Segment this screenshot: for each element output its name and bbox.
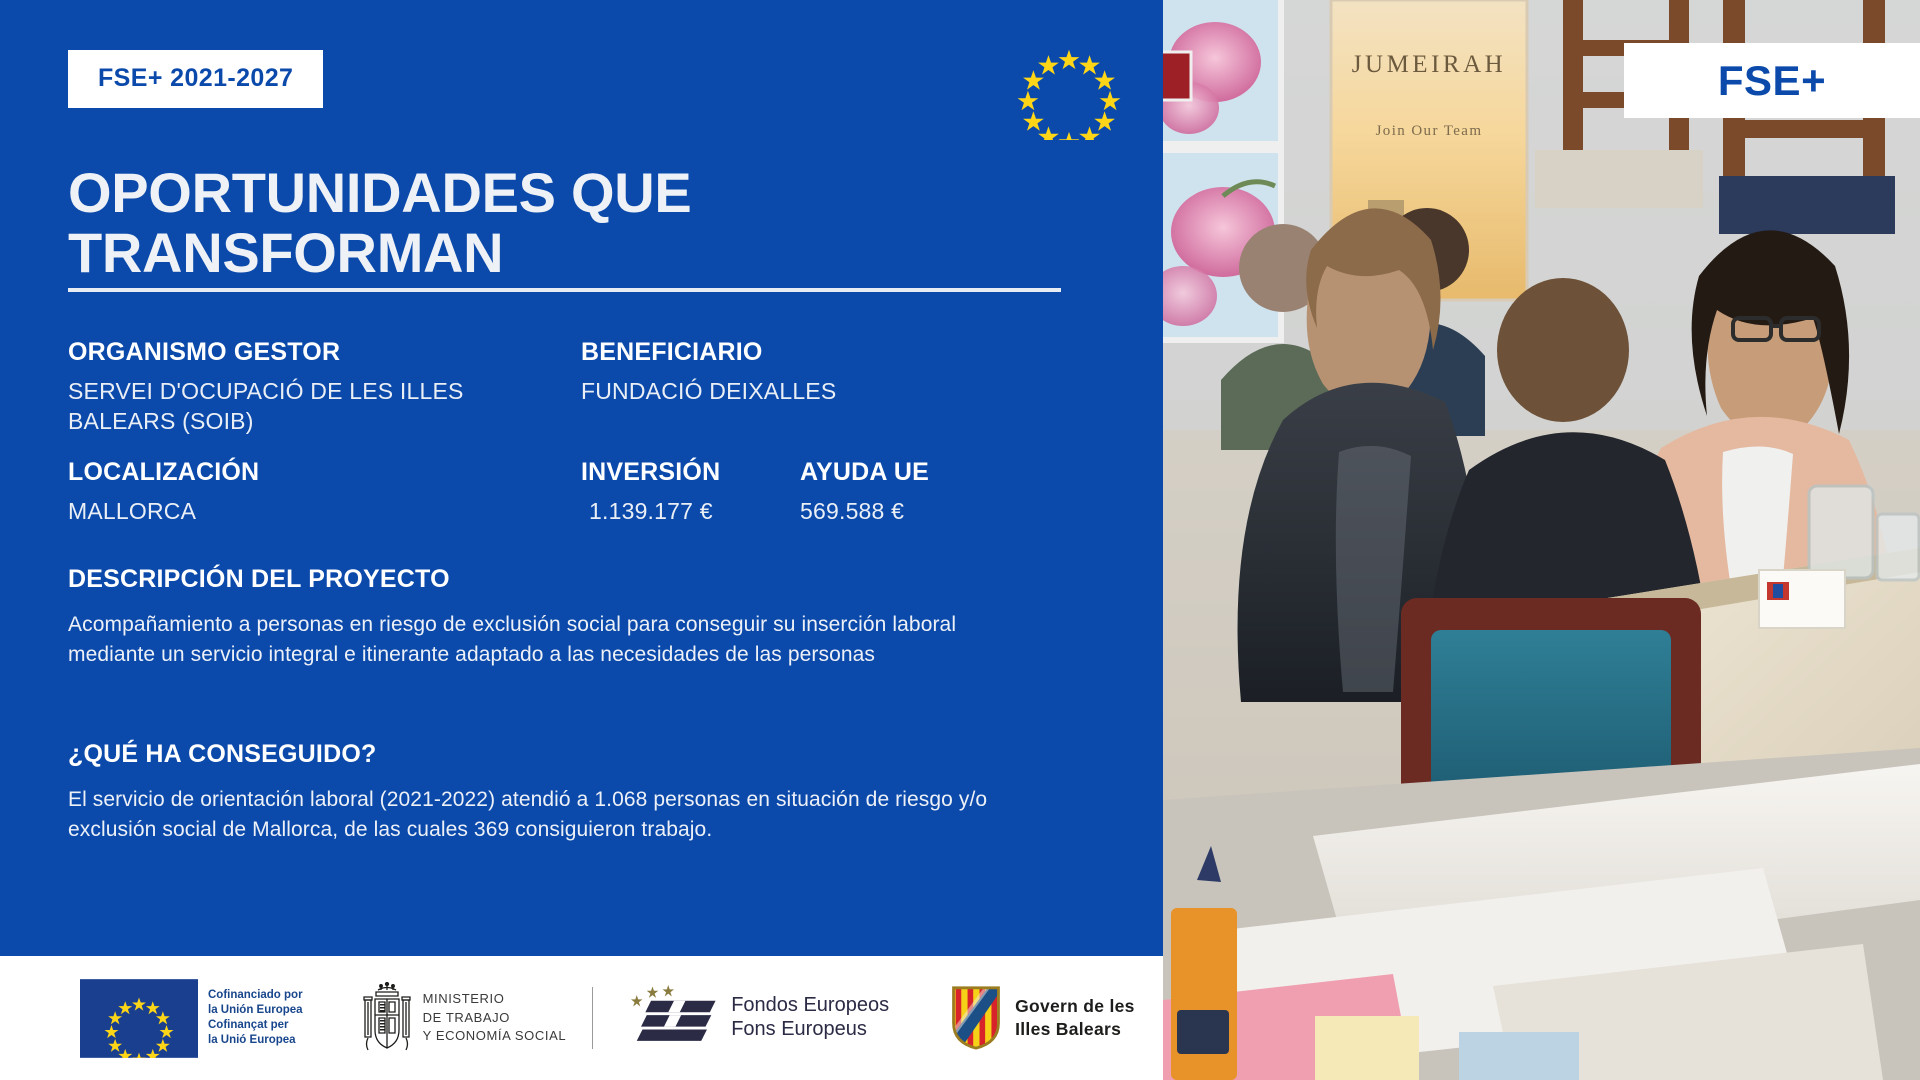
fse-plus-badge: FSE+ <box>1624 43 1920 118</box>
footer-logo-strip: Cofinanciado por la Unión Europea Cofina… <box>0 956 1163 1080</box>
logo-ministerio-text: MINISTERIO DE TRABAJO Y ECONOMÍA SOCIAL <box>423 990 567 1047</box>
fondos-europeos-icon <box>631 985 717 1051</box>
fact-label-inversion: INVERSIÓN <box>581 458 781 487</box>
footer-divider <box>592 987 593 1049</box>
logo-govern-text: Govern de les Illes Balears <box>1015 995 1135 1041</box>
fact-value-organismo: SERVEI D'OCUPACIÓ DE LES ILLES BALEARS (… <box>68 377 508 437</box>
fact-value-ayuda-ue: 569.588 € <box>800 497 1080 527</box>
facts-row-2: LOCALIZACIÓN MALLORCA INVERSIÓN 1.139.17… <box>68 458 1088 568</box>
logo-eu-line2: la Unión Europea <box>208 1003 303 1018</box>
section-conseguido: ¿QUÉ HA CONSEGUIDO? El servicio de orien… <box>68 740 1098 846</box>
logo-eu-cofinanciado: Cofinanciado por la Unión Europea Cofina… <box>80 979 303 1058</box>
fact-label-ayuda-ue: AYUDA UE <box>800 458 1080 487</box>
fact-value-beneficiario: FUNDACIÓ DEIXALLES <box>581 377 1001 407</box>
title-divider <box>68 288 1061 292</box>
svg-text:JUMEIRAH: JUMEIRAH <box>1352 51 1506 78</box>
logo-eu-text: Cofinanciado por la Unión Europea Cofina… <box>208 988 303 1049</box>
fact-label-localizacion: LOCALIZACIÓN <box>68 458 508 487</box>
fact-label-beneficiario: BENEFICIARIO <box>581 338 1001 367</box>
logo-fondos-text: Fondos Europeos Fons Europeus <box>731 994 889 1041</box>
logo-ministerio-line3: Y ECONOMÍA SOCIAL <box>423 1027 567 1046</box>
logo-eu-line4: la Unió Europea <box>208 1033 303 1048</box>
project-facts: ORGANISMO GESTOR SERVEI D'OCUPACIÓ DE LE… <box>68 338 1088 448</box>
logo-fondos-line1: Fondos Europeos <box>731 994 889 1018</box>
fact-beneficiario: BENEFICIARIO FUNDACIÓ DEIXALLES <box>581 338 1001 407</box>
page-title: OPORTUNIDADES QUE TRANSFORMAN <box>68 163 968 284</box>
fact-label-organismo: ORGANISMO GESTOR <box>68 338 508 367</box>
logo-eu-line3: Cofinançat per <box>208 1018 303 1033</box>
poster-root: JUMEIRAH Join Our Team jobs.jumeirah.com <box>0 0 1920 1080</box>
section-body-conseguido: El servicio de orientación laboral (2021… <box>68 785 1043 846</box>
spain-coat-of-arms-icon <box>361 982 413 1054</box>
photo-pane: JUMEIRAH Join Our Team jobs.jumeirah.com <box>1163 0 1920 1080</box>
section-body-descripcion: Acompañamiento a personas en riesgo de e… <box>68 610 1043 671</box>
section-title-conseguido: ¿QUÉ HA CONSEGUIDO? <box>68 740 1098 769</box>
photo-illustration: JUMEIRAH Join Our Team jobs.jumeirah.com <box>1163 0 1920 1080</box>
programme-badge: FSE+ 2021-2027 <box>68 50 323 108</box>
logo-govern-line1: Govern de les <box>1015 995 1135 1018</box>
fact-value-inversion: 1.139.177 € <box>581 497 781 527</box>
logo-govern-illes-balears: Govern de les Illes Balears <box>949 985 1135 1051</box>
section-descripcion: DESCRIPCIÓN DEL PROYECTO Acompañamiento … <box>68 565 1098 671</box>
blue-content-panel: FSE+ 2021-2027 OPORTUNIDADES QUE TRANSFO… <box>0 0 1163 956</box>
logo-fondos-line2: Fons Europeus <box>731 1018 889 1042</box>
eu-flag-icon <box>981 22 1157 140</box>
fact-value-localizacion: MALLORCA <box>68 497 508 527</box>
fact-inversion: INVERSIÓN 1.139.177 € <box>581 458 781 527</box>
logo-eu-line1: Cofinanciado por <box>208 988 303 1003</box>
eu-flag-small-icon <box>80 979 198 1058</box>
logo-fondos-europeos: Fondos Europeos Fons Europeus <box>631 985 889 1051</box>
svg-text:Join Our Team: Join Our Team <box>1376 123 1483 139</box>
fact-organismo: ORGANISMO GESTOR SERVEI D'OCUPACIÓ DE LE… <box>68 338 508 437</box>
balearic-shield-icon <box>949 985 1003 1051</box>
foreground-papers <box>1163 748 1920 1080</box>
fact-localizacion: LOCALIZACIÓN MALLORCA <box>68 458 508 527</box>
section-title-descripcion: DESCRIPCIÓN DEL PROYECTO <box>68 565 1098 594</box>
logo-ministerio-line2: DE TRABAJO <box>423 1009 567 1028</box>
logo-govern-line2: Illes Balears <box>1015 1018 1135 1041</box>
logo-ministerio-line1: MINISTERIO <box>423 990 567 1009</box>
fact-ayuda-ue: AYUDA UE 569.588 € <box>800 458 1080 527</box>
facts-row-1: ORGANISMO GESTOR SERVEI D'OCUPACIÓ DE LE… <box>68 338 1088 448</box>
logo-ministerio: MINISTERIO DE TRABAJO Y ECONOMÍA SOCIAL <box>361 982 567 1054</box>
fse-plus-badge-label: FSE+ <box>1718 57 1826 105</box>
